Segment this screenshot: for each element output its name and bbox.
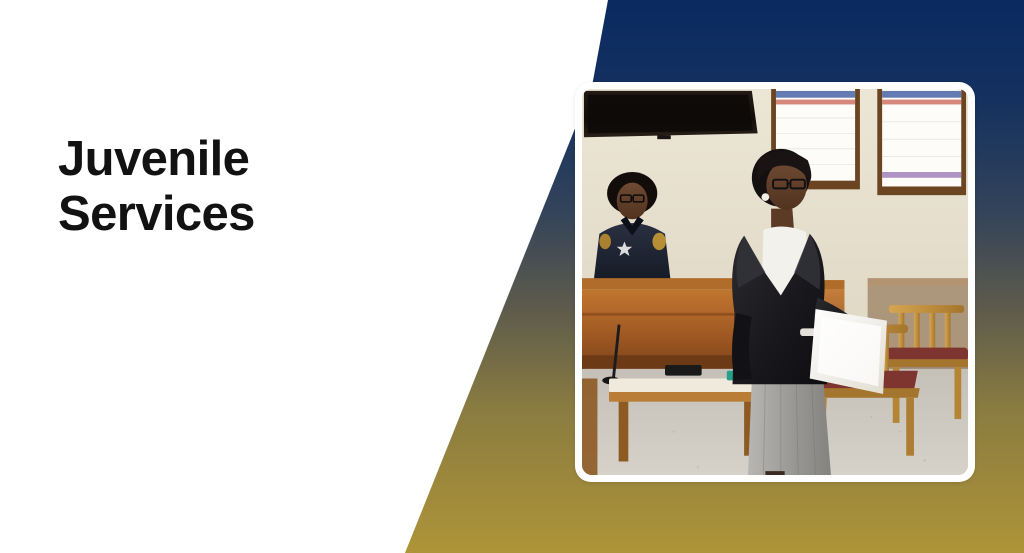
framed-wall-calendar-right — [877, 89, 966, 195]
speaker-earring — [761, 193, 769, 201]
courtroom-photo — [582, 89, 968, 475]
page-title-line-2: Services — [58, 187, 478, 242]
bench-post — [582, 379, 597, 476]
wall-trim — [868, 278, 968, 286]
speaker-skirt — [748, 379, 831, 476]
deputy-shoulder-patch — [599, 234, 611, 249]
slide-canvas: Juvenile Services — [0, 0, 1024, 553]
page-title: Juvenile Services — [58, 132, 478, 242]
page-title-line-1: Juvenile — [58, 132, 478, 187]
judicial-bench — [582, 278, 752, 369]
photo-card — [575, 82, 975, 482]
wall-mounted-monitor — [584, 91, 758, 139]
courtroom-photo-illustration — [582, 89, 968, 475]
